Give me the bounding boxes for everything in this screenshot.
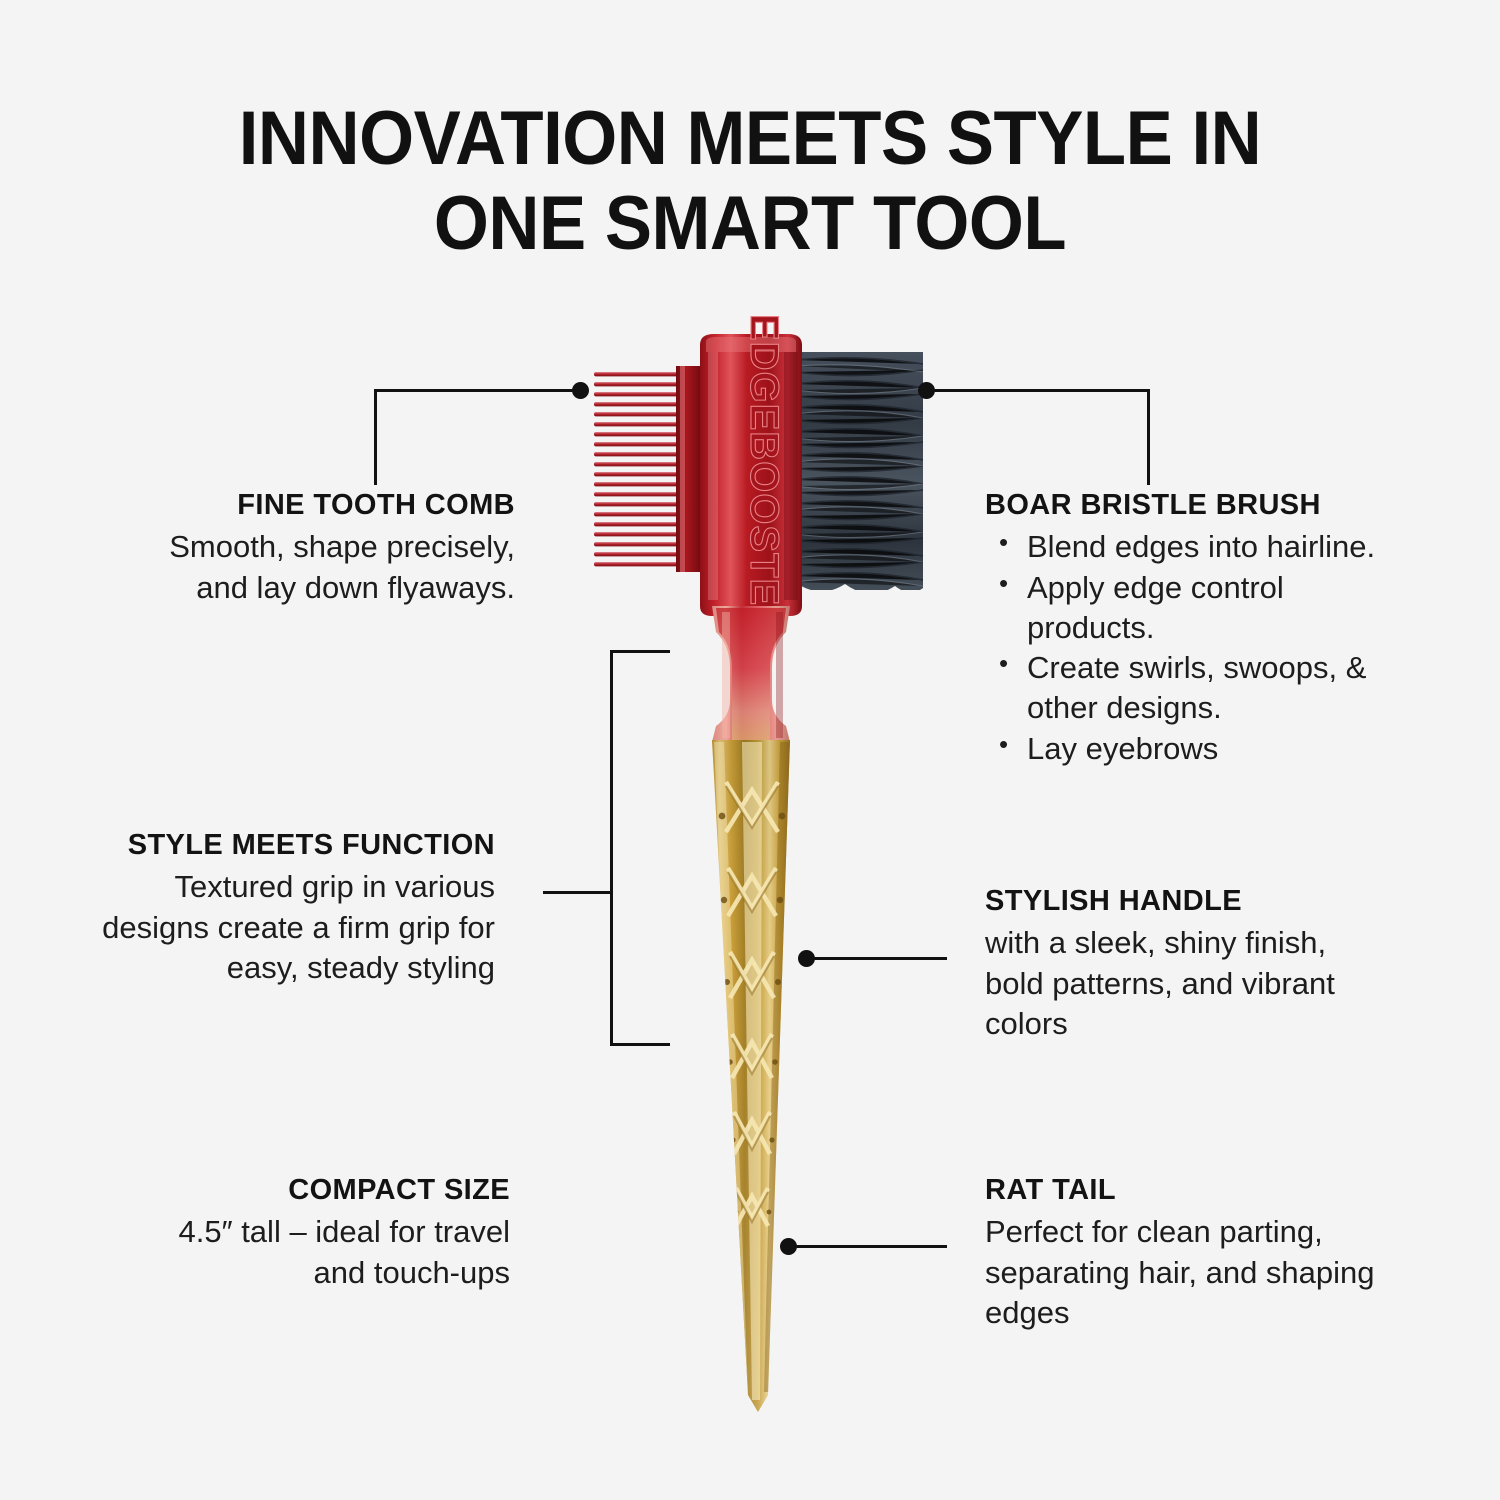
- leader-line-stylish-handle: [810, 957, 947, 960]
- title-line-1: INNOVATION MEETS STYLE IN: [183, 96, 1318, 181]
- feature-heading-compact-size: COMPACT SIZE: [155, 1172, 510, 1208]
- rat-tail-handle: [700, 740, 810, 1420]
- bracket-spine-style-meets-function: [610, 650, 613, 1046]
- feature-compact-size: COMPACT SIZE 4.5″ tall – ideal for trave…: [155, 1172, 510, 1293]
- feature-body-style-meets-function: Textured grip in various designs create …: [100, 867, 495, 988]
- comb-teeth-group: [592, 366, 702, 572]
- feature-style-meets-function: STYLE MEETS FUNCTION Textured grip in va…: [100, 827, 495, 988]
- title-line-2: ONE SMART TOOL: [183, 181, 1318, 266]
- boar-bristle-group: [795, 352, 923, 600]
- leader-line-fine-tooth-comb-h: [374, 389, 579, 392]
- bracket-arm-bottom-style-meets-function: [610, 1043, 670, 1046]
- feature-bullet-list-boar-bristle-brush: Blend edges into hairline. Apply edge co…: [985, 527, 1415, 769]
- page-title: INNOVATION MEETS STYLE IN ONE SMART TOOL: [0, 96, 1500, 266]
- bracket-arm-top-style-meets-function: [610, 650, 670, 653]
- feature-heading-style-meets-function: STYLE MEETS FUNCTION: [100, 827, 495, 863]
- list-item: Lay eyebrows: [985, 729, 1415, 769]
- feature-body-compact-size: 4.5″ tall – ideal for travel and touch-u…: [155, 1212, 510, 1293]
- feature-heading-rat-tail: RAT TAIL: [985, 1172, 1385, 1208]
- leader-line-boar-bristle-brush-h: [930, 389, 1150, 392]
- list-item: Apply edge control products.: [985, 568, 1415, 649]
- feature-boar-bristle-brush: BOAR BRISTLE BRUSH Blend edges into hair…: [985, 487, 1415, 769]
- infographic-canvas: INNOVATION MEETS STYLE IN ONE SMART TOOL: [0, 0, 1500, 1500]
- feature-rat-tail: RAT TAIL Perfect for clean parting, sepa…: [985, 1172, 1385, 1333]
- feature-heading-fine-tooth-comb: FINE TOOTH COMB: [140, 487, 515, 523]
- feature-body-stylish-handle: with a sleek, shiny finish, bold pattern…: [985, 923, 1385, 1044]
- brush-head-body: EDGEBOOSTER: [700, 314, 802, 636]
- list-item: Blend edges into hairline.: [985, 527, 1415, 567]
- leader-line-boar-bristle-brush-v: [1147, 389, 1150, 485]
- bracket-stem-style-meets-function: [543, 891, 613, 894]
- brand-emboss-text: EDGEBOOSTER: [742, 314, 786, 636]
- feature-stylish-handle: STYLISH HANDLE with a sleek, shiny finis…: [985, 883, 1385, 1044]
- leader-line-rat-tail: [792, 1245, 947, 1248]
- feature-body-rat-tail: Perfect for clean parting, separating ha…: [985, 1212, 1385, 1333]
- feature-heading-stylish-handle: STYLISH HANDLE: [985, 883, 1385, 919]
- feature-heading-boar-bristle-brush: BOAR BRISTLE BRUSH: [985, 487, 1415, 523]
- feature-body-fine-tooth-comb: Smooth, shape precisely, and lay down fl…: [140, 527, 515, 608]
- handle-neck: [712, 606, 790, 742]
- list-item: Create swirls, swoops, & other designs.: [985, 648, 1415, 729]
- feature-fine-tooth-comb: FINE TOOTH COMB Smooth, shape precisely,…: [140, 487, 515, 608]
- leader-line-fine-tooth-comb-v: [374, 389, 377, 485]
